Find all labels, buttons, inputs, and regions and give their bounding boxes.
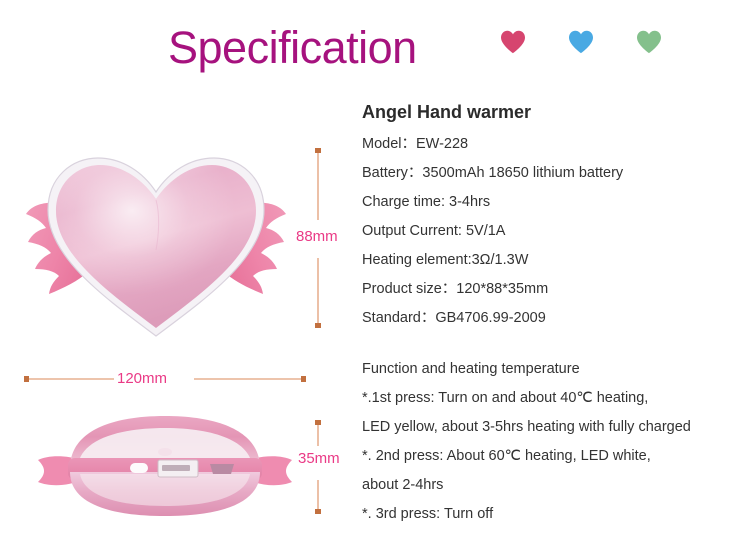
function-line-press1: *.1st press: Turn on and about 40℃ heati… bbox=[362, 384, 736, 413]
specification-list: Angel Hand warmer Model：EW-228 Battery：3… bbox=[362, 98, 734, 333]
spec-line-model: Model：EW-228 bbox=[362, 130, 734, 159]
function-line-press3: *. 3rd press: Turn off bbox=[362, 500, 736, 529]
spec-line-output-current: Output Current: 5V/1A bbox=[362, 217, 734, 246]
led-indicator bbox=[130, 463, 148, 473]
function-list: Function and heating temperature *.1st p… bbox=[362, 355, 736, 529]
micro-usb-port bbox=[210, 464, 234, 474]
product-name: Angel Hand warmer bbox=[362, 98, 734, 126]
spec-line-heating-element: Heating element:3Ω/1.3W bbox=[362, 246, 734, 275]
function-heading: Function and heating temperature bbox=[362, 355, 736, 384]
usb-a-contacts bbox=[162, 465, 190, 471]
spec-line-product-size: Product size：120*88*35mm bbox=[362, 275, 734, 304]
page-title: Specification bbox=[168, 22, 417, 74]
heart-icon-green bbox=[636, 30, 662, 54]
dimension-label-thickness: 35mm bbox=[298, 450, 340, 467]
dimension-label-width: 120mm bbox=[117, 370, 167, 387]
specification-page: Specification bbox=[0, 0, 736, 536]
heart-hand-warmer-side-view bbox=[30, 402, 300, 520]
dimension-label-height: 88mm bbox=[296, 228, 338, 245]
function-line-press2-duration: about 2-4hrs bbox=[362, 471, 736, 500]
heart-icon-blue bbox=[568, 30, 594, 54]
side-top-dimple bbox=[158, 448, 172, 456]
heart-gloss bbox=[56, 165, 256, 328]
spec-line-charge-time: Charge time: 3-4hrs bbox=[362, 188, 734, 217]
function-line-led: LED yellow, about 3-5hrs heating with fu… bbox=[362, 413, 736, 442]
spec-line-battery: Battery：3500mAh 18650 lithium battery bbox=[362, 159, 734, 188]
heart-icon-pink bbox=[500, 30, 526, 54]
function-line-press2: *. 2nd press: About 60℃ heating, LED whi… bbox=[362, 442, 736, 471]
dimension-line-thickness bbox=[288, 418, 348, 516]
spec-line-standard: Standard：GB4706.99-2009 bbox=[362, 304, 734, 333]
heart-hand-warmer-front-view bbox=[12, 138, 300, 343]
